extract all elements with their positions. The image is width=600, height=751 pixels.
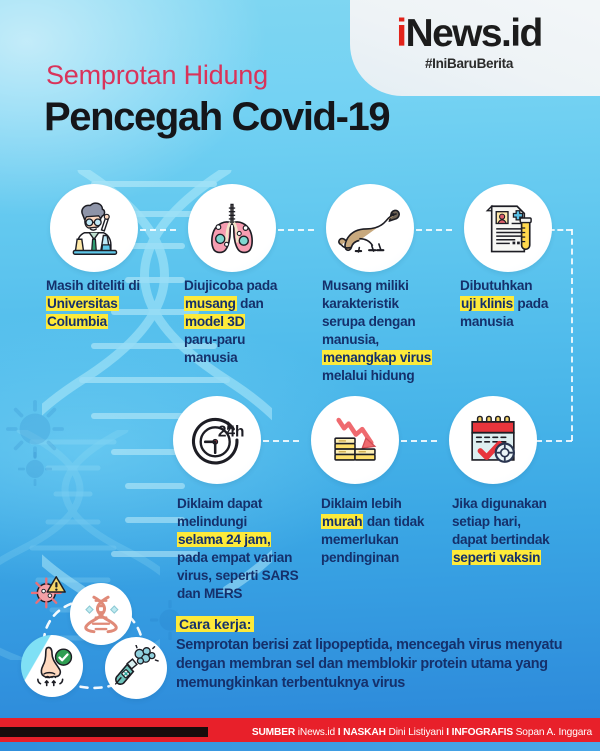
footer-infographic-label: INFOGRAFIS (452, 727, 513, 738)
dna-helix-icon (70, 583, 132, 645)
footer-credits: SUMBER iNews.id I NASKAH Dini Listiyani … (252, 727, 592, 738)
how-it-works-title: Cara kerja: (176, 616, 254, 632)
calendar-check-icon (449, 396, 537, 484)
virus-watermark-2 (18, 452, 52, 486)
how-it-works-block: Cara kerja: Semprotan berisi zat lipopep… (176, 616, 586, 693)
logo-i-accent: i (396, 12, 405, 55)
step-6-text: Diklaim lebihmurah dan tidakmemerlukanpe… (321, 495, 451, 567)
footer-source-value: iNews.id (298, 727, 335, 738)
step-2-text: Diujicoba padamusang danmodel 3Dparu-par… (184, 277, 314, 367)
infographic-canvas: iNews.id #IniBaruBerita Semprotan Hidung… (0, 0, 600, 751)
footer-sep-2: I (446, 727, 449, 738)
lungs-icon (188, 184, 276, 272)
logo-wordmark: iNews.id (360, 14, 578, 53)
medical-report-icon (464, 184, 552, 272)
step-4-text: Dibutuhkanuji klinis padamanusia (460, 277, 594, 331)
cost-down-icon (311, 396, 399, 484)
footer-script-label: NASKAH (343, 727, 386, 738)
spray-bottle-icon (105, 637, 167, 699)
scientist-icon (50, 184, 138, 272)
footer-sep-1: I (338, 727, 341, 738)
footer-source-label: SUMBER (252, 727, 295, 738)
footer-bottom-strip (0, 742, 600, 751)
virus-warning-icon (31, 574, 67, 610)
kicker-title: Semprotan Hidung (46, 60, 268, 91)
connector-right-vertical (571, 229, 573, 441)
page-title: Pencegah Covid-19 (44, 95, 389, 140)
logo-tagline: #IniBaruBerita (360, 56, 578, 71)
nose-check-icon (21, 635, 83, 697)
clock-24h-icon: 24h (173, 396, 261, 484)
step-1-text: Masih diteliti diUniversitasColumbia (46, 277, 174, 331)
footer-script-value: Dini Listiyani (388, 727, 443, 738)
how-it-works-body: Semprotan berisi zat lipopeptida, menceg… (176, 636, 586, 693)
svg-text:24h: 24h (218, 423, 245, 440)
brand-logo[interactable]: iNews.id #IniBaruBerita (360, 14, 578, 71)
logo-rest: News.id (406, 12, 542, 55)
step-5-text: Diklaim dapatmelindungiselama 24 jam,pad… (177, 495, 321, 603)
step-3-text: Musang milikikarakteristikserupa denganm… (322, 277, 458, 385)
footer-dark-accent (0, 727, 208, 737)
ferret-icon (326, 184, 414, 272)
virus-watermark-1 (6, 400, 64, 458)
footer-infographic-value: Sopan A. Inggara (516, 727, 592, 738)
step-7-text: Jika digunakansetiap hari,dapat bertinda… (452, 495, 590, 567)
